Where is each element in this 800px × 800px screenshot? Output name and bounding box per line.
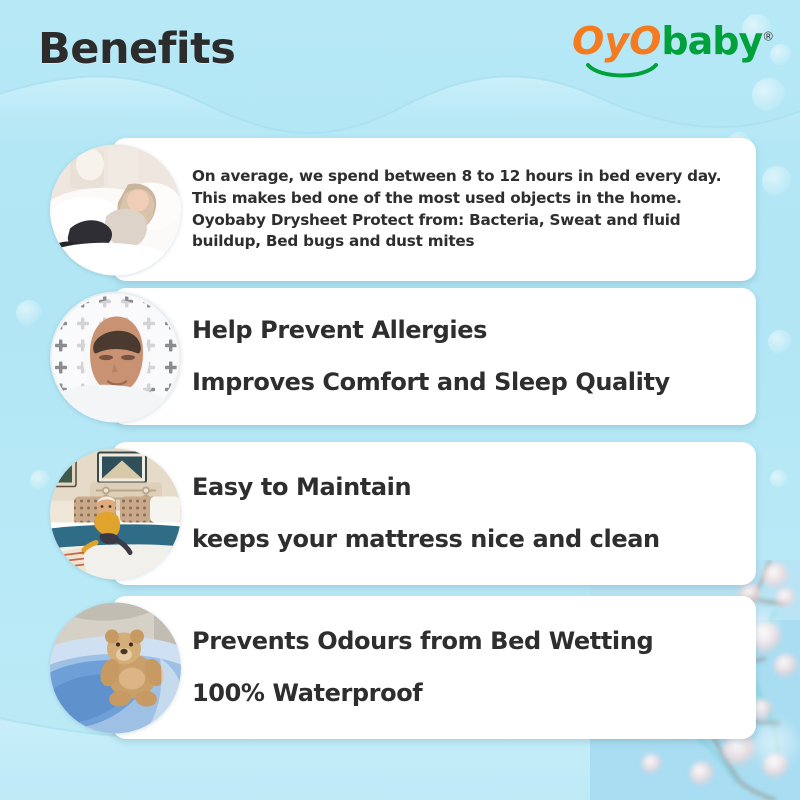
benefits-infographic: Benefits OyObaby® <box>0 0 800 800</box>
logo-text-o2: O <box>629 19 661 63</box>
benefit-card-allergies-comfort[interactable]: Help Prevent Allergies Improves Comfort … <box>112 288 756 425</box>
bokeh-light-circle <box>30 470 50 490</box>
card-content: Help Prevent Allergies Improves Comfort … <box>192 288 738 425</box>
benefit-card-easy-maintain[interactable]: Easy to Maintain keeps your mattress nic… <box>112 442 756 585</box>
logo-text-y: y <box>604 19 629 63</box>
logo-text-baby: baby <box>661 19 762 63</box>
card-headline: keeps your mattress nice and clean <box>192 527 738 552</box>
card-headline: Prevents Odours from Bed Wetting <box>192 629 738 654</box>
card-content: Prevents Odours from Bed Wetting 100% Wa… <box>192 596 738 739</box>
benefit-card-list: On average, we spend between 8 to 12 hou… <box>0 0 800 800</box>
card-content: Easy to Maintain keeps your mattress nic… <box>192 442 738 585</box>
page-header: Benefits OyObaby® <box>0 0 800 95</box>
benefit-card-odour-waterproof[interactable]: Prevents Odours from Bed Wetting 100% Wa… <box>112 596 756 739</box>
oyobaby-logo[interactable]: OyObaby® <box>572 22 772 80</box>
card-headline: Improves Comfort and Sleep Quality <box>192 370 738 395</box>
toddler-on-bed-photo <box>50 448 181 579</box>
page-title: Benefits <box>38 24 235 74</box>
logo-wordmark: OyObaby® <box>572 22 772 60</box>
registered-trademark-icon: ® <box>762 29 774 43</box>
bokeh-light-circle <box>770 470 788 488</box>
teddy-bear-on-blue-sheet-photo <box>50 602 181 733</box>
card-paragraph: On average, we spend between 8 to 12 hou… <box>192 166 738 252</box>
card-content: On average, we spend between 8 to 12 hou… <box>192 138 738 281</box>
benefit-card-bed-usage-facts[interactable]: On average, we spend between 8 to 12 hou… <box>112 138 756 281</box>
card-headline: 100% Waterproof <box>192 681 738 706</box>
swaddled-sleeping-baby-photo <box>50 291 181 422</box>
bokeh-light-circle <box>762 166 792 196</box>
card-headline: Help Prevent Allergies <box>192 318 738 343</box>
pregnant-woman-on-bed-photo <box>50 144 181 275</box>
logo-smile-icon <box>586 62 658 78</box>
bokeh-light-circle <box>768 330 792 354</box>
card-headline: Easy to Maintain <box>192 475 738 500</box>
logo-text-o1: O <box>572 19 604 63</box>
bokeh-light-circle <box>16 300 42 326</box>
